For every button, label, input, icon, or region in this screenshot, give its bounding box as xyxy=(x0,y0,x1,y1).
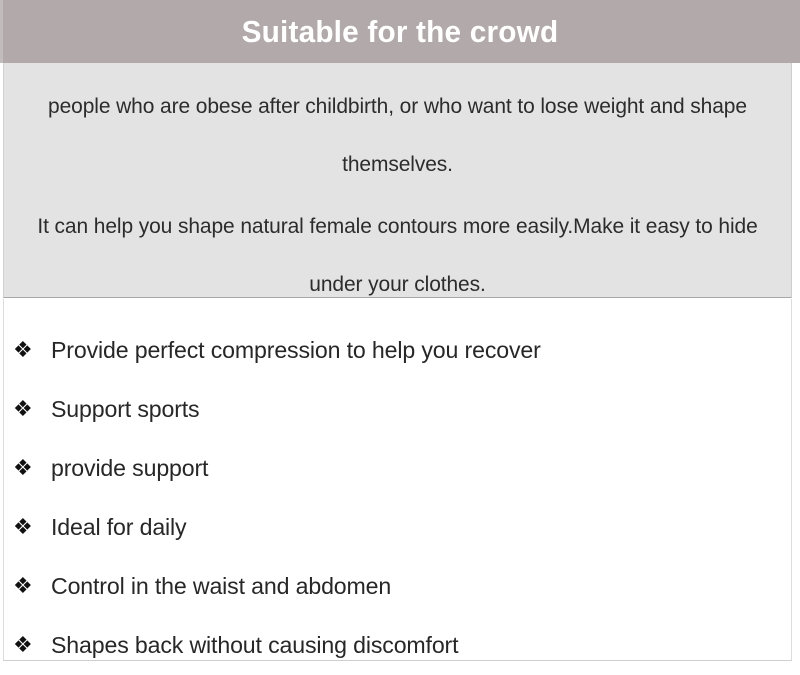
diamond-bullet-icon: ❖ xyxy=(13,635,51,657)
list-item: ❖ Provide perfect compression to help yo… xyxy=(4,321,791,380)
diamond-bullet-icon: ❖ xyxy=(13,517,51,539)
feature-label: Control in the waist and abdomen xyxy=(51,575,391,599)
list-item: ❖ Shapes back without causing discomfort xyxy=(4,616,791,675)
diamond-bullet-icon: ❖ xyxy=(13,399,51,421)
intro-paragraph-1: people who are obese after childbirth, o… xyxy=(24,77,772,193)
page-title: Suitable for the crowd xyxy=(242,16,559,47)
intro-section: people who are obese after childbirth, o… xyxy=(3,63,792,298)
list-item: ❖ Ideal for daily xyxy=(4,498,791,557)
feature-label: Support sports xyxy=(51,398,199,422)
diamond-bullet-icon: ❖ xyxy=(13,458,51,480)
diamond-bullet-icon: ❖ xyxy=(13,340,51,362)
diamond-bullet-icon: ❖ xyxy=(13,576,51,598)
feature-label: Provide perfect compression to help you … xyxy=(51,339,541,363)
feature-label: provide support xyxy=(51,457,208,481)
card-header: Suitable for the crowd xyxy=(0,0,800,63)
list-item: ❖ Control in the waist and abdomen xyxy=(4,557,791,616)
feature-label: Ideal for daily xyxy=(51,516,186,540)
intro-paragraph-2: It can help you shape natural female con… xyxy=(24,197,772,313)
list-item: ❖ provide support xyxy=(4,439,791,498)
feature-label: Shapes back without causing discomfort xyxy=(51,634,458,658)
feature-list: ❖ Provide perfect compression to help yo… xyxy=(3,299,792,661)
list-item: ❖ Support sports xyxy=(4,380,791,439)
product-info-card: Suitable for the crowd people who are ob… xyxy=(0,0,800,668)
